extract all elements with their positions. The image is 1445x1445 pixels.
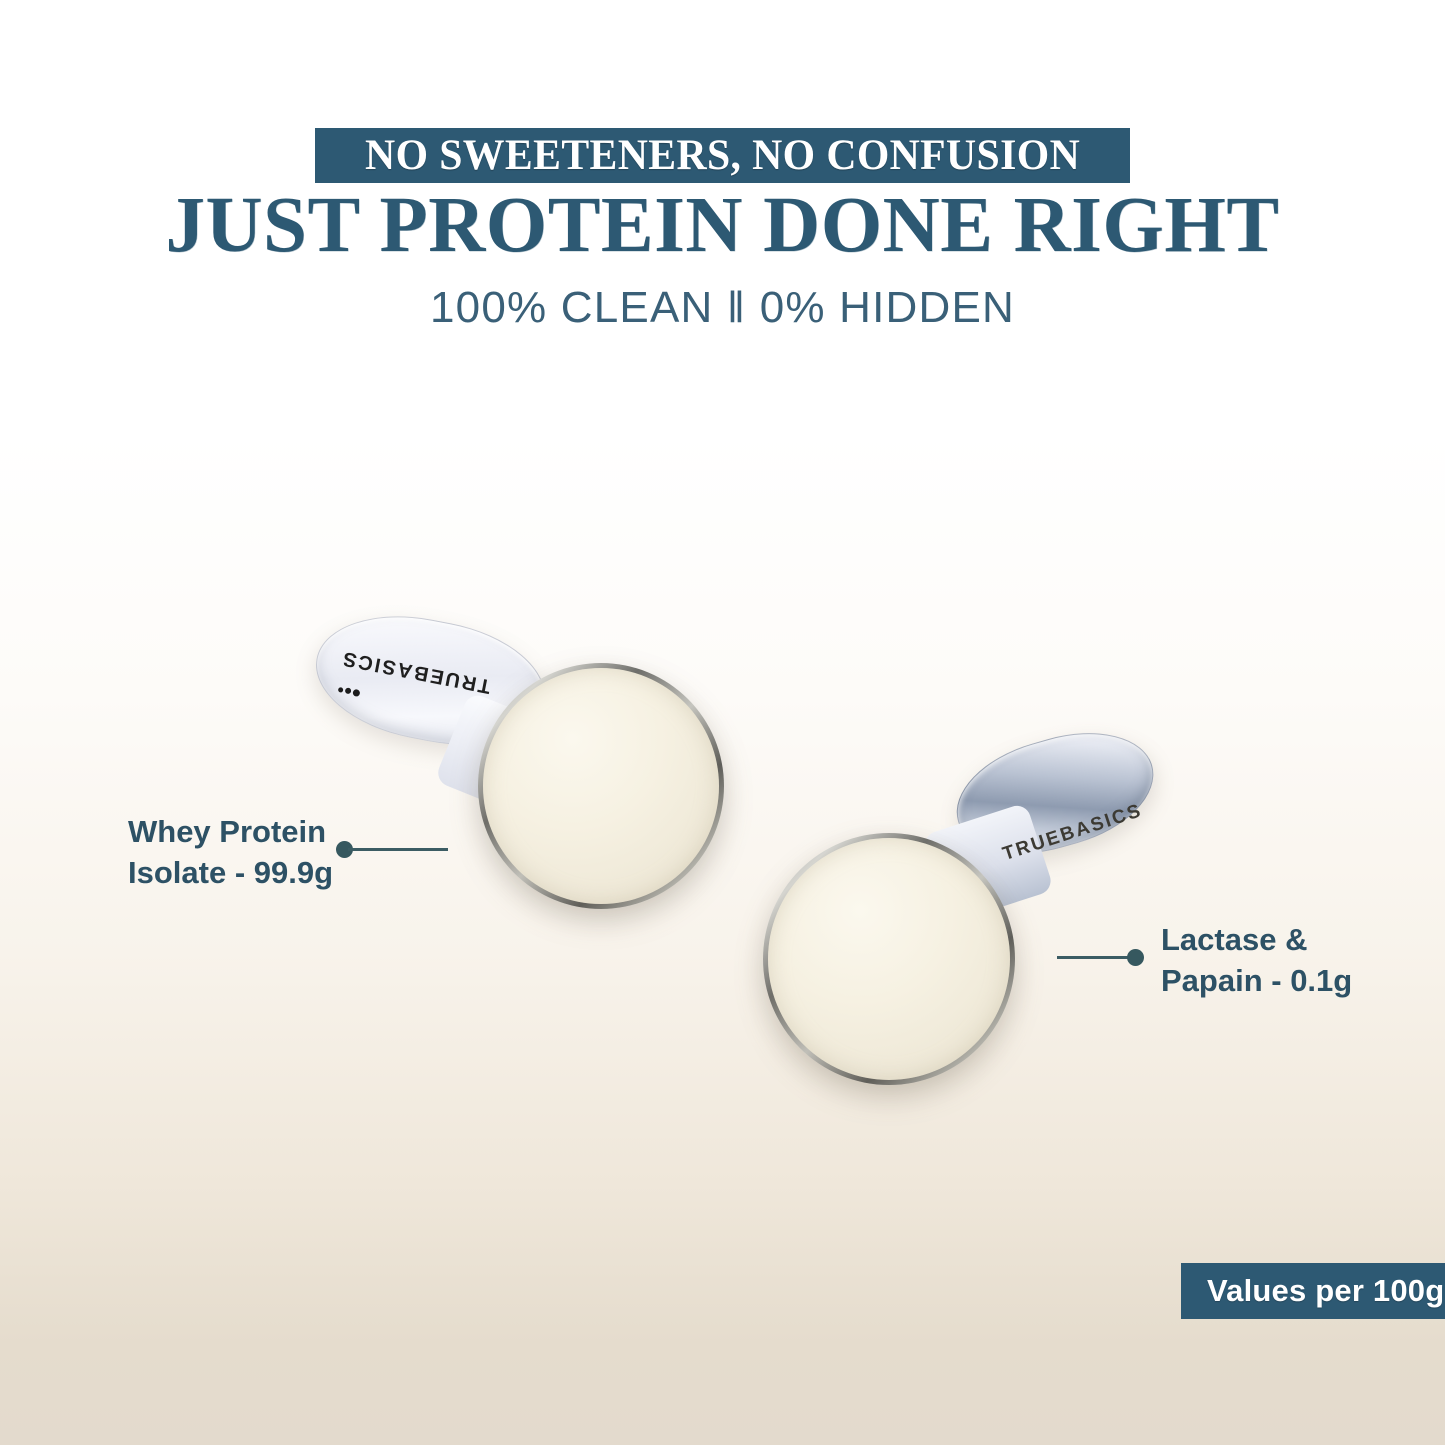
connector-left-line [348,848,448,851]
callout-whey-line1: Whey Protein [128,812,358,853]
connector-right-line [1057,956,1135,959]
values-per-100g-label: Values per 100g [1207,1273,1444,1309]
scoop-right-powder [768,838,1010,1080]
connector-right [1057,946,1149,968]
callout-whey-protein-isolate: Whey Protein Isolate - 99.9g [128,812,358,894]
callout-lactase-line1: Lactase & [1161,920,1411,961]
scoop-right: TRUEBASICS [0,0,1445,1445]
values-per-100g-badge: Values per 100g [1181,1263,1445,1319]
callout-lactase-line2: Papain - 0.1g [1161,961,1411,1002]
callout-whey-line2: Isolate - 99.9g [128,853,358,894]
connector-right-dot [1127,949,1144,966]
infographic-canvas: NO SWEETENERS, NO CONFUSION JUST PROTEIN… [0,0,1445,1445]
connector-left [336,838,451,860]
callout-lactase-papain: Lactase & Papain - 0.1g [1161,920,1411,1002]
